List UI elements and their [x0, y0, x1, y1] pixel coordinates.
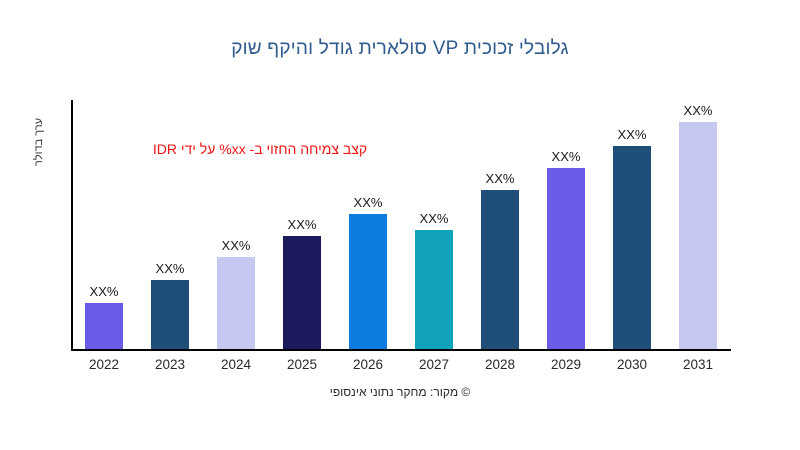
- bar-group: XX%2027: [401, 99, 467, 349]
- bar-group: XX%2028: [467, 99, 533, 349]
- bar[interactable]: XX%: [679, 122, 717, 349]
- page-title: גלובלי זכוכית PV סולארית גודל והיקף שוק: [0, 38, 800, 60]
- x-axis-tick-label: 2030: [617, 357, 647, 372]
- x-axis-tick-label: 2023: [155, 357, 185, 372]
- bar-value-label: XX%: [354, 195, 383, 210]
- bar[interactable]: XX%: [85, 303, 123, 349]
- x-axis-tick-label: 2031: [683, 357, 713, 372]
- bar-rect: [283, 236, 321, 349]
- x-axis-line: [71, 349, 731, 351]
- bar-group: XX%2023: [137, 99, 203, 349]
- source-note: © מקור: מחקר נתוני אינסופי: [0, 385, 800, 399]
- bar-rect: [679, 122, 717, 349]
- bar-group: XX%2024: [203, 99, 269, 349]
- x-axis-tick-label: 2028: [485, 357, 515, 372]
- bar-value-label: XX%: [684, 103, 713, 118]
- bar-value-label: XX%: [288, 217, 317, 232]
- bar[interactable]: XX%: [349, 214, 387, 349]
- bar-group: XX%2031: [665, 99, 731, 349]
- bar[interactable]: XX%: [547, 168, 585, 349]
- y-axis-label: ערך בדולר: [33, 97, 45, 187]
- bar[interactable]: XX%: [151, 280, 189, 349]
- bar-rect: [217, 257, 255, 349]
- plot-area: XX%2022XX%2023XX%2024XX%2025XX%2026XX%20…: [71, 100, 731, 350]
- bar-rect: [151, 280, 189, 349]
- bar-rect: [547, 168, 585, 349]
- bar-rect: [85, 303, 123, 349]
- bar[interactable]: XX%: [481, 190, 519, 349]
- bar[interactable]: XX%: [613, 146, 651, 349]
- x-axis-tick-label: 2022: [89, 357, 119, 372]
- bar-rect: [613, 146, 651, 349]
- x-axis-tick-label: 2027: [419, 357, 449, 372]
- chart-page: גלובלי זכוכית PV סולארית גודל והיקף שוק …: [0, 0, 800, 450]
- bar-value-label: XX%: [486, 171, 515, 186]
- bar-value-label: XX%: [420, 211, 449, 226]
- bar-rect: [349, 214, 387, 349]
- bar[interactable]: XX%: [217, 257, 255, 349]
- x-axis-tick-label: 2029: [551, 357, 581, 372]
- x-axis-tick-label: 2026: [353, 357, 383, 372]
- bar-value-label: XX%: [156, 261, 185, 276]
- bar[interactable]: XX%: [283, 236, 321, 349]
- x-axis-tick-label: 2024: [221, 357, 251, 372]
- bar-group: XX%2022: [71, 99, 137, 349]
- bar-value-label: XX%: [222, 238, 251, 253]
- bar[interactable]: XX%: [415, 230, 453, 349]
- bar-group: XX%2026: [335, 99, 401, 349]
- bar-rect: [481, 190, 519, 349]
- bar-group: XX%2025: [269, 99, 335, 349]
- bar-group: XX%2030: [599, 99, 665, 349]
- bar-group: XX%2029: [533, 99, 599, 349]
- bar-value-label: XX%: [90, 284, 119, 299]
- x-axis-tick-label: 2025: [287, 357, 317, 372]
- bar-value-label: XX%: [618, 127, 647, 142]
- bar-rect: [415, 230, 453, 349]
- bar-value-label: XX%: [552, 149, 581, 164]
